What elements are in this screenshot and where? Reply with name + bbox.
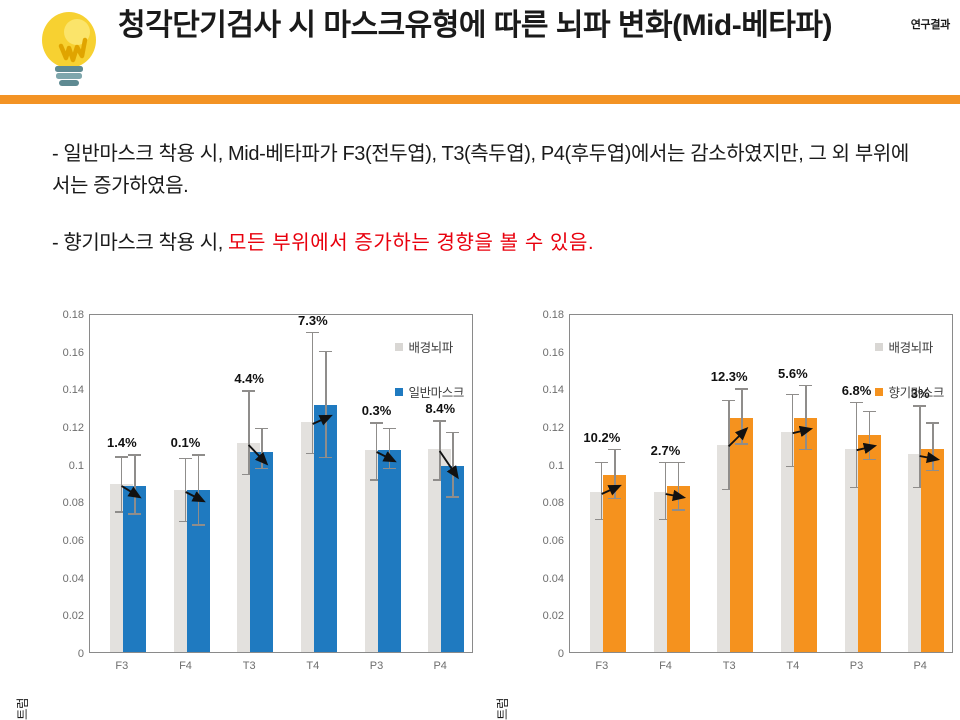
paragraph-scent-highlight: 모든 부위에서 증가하는 경향을 볼 수 있음.: [228, 232, 594, 254]
y-axis-tick: 0.12: [543, 422, 564, 434]
error-bar: [926, 422, 939, 471]
page-title: 청각단기검사 시 마스크유형에 따른 뇌파 변화(Mid-베타파): [118, 6, 858, 46]
chart-legend: 배경뇌파향기마스크: [875, 337, 944, 427]
error-bar: [735, 388, 748, 445]
slide-root: 청각단기검사 시 마스크유형에 따른 뇌파 변화(Mid-베타파) 연구결과 -…: [0, 0, 960, 720]
y-axis-tick: 0.04: [543, 573, 564, 585]
y-axis-tick: 0.02: [543, 610, 564, 622]
y-axis-tick: 0.16: [63, 347, 84, 359]
chart-scent-mask: 상대파워스펙트럼00.020.040.060.080.10.120.140.16…: [480, 298, 960, 688]
percent-change-label: 2.7%: [651, 443, 681, 458]
bar-group: T312.3%: [697, 315, 761, 652]
y-axis-label: 상대파워스펙트럼: [12, 698, 31, 720]
error-bar: [255, 428, 268, 469]
legend-swatch-icon: [395, 343, 403, 351]
error-bar: [383, 428, 396, 469]
y-axis-tick: 0.16: [543, 347, 564, 359]
percent-change-label: 7.3%: [298, 313, 328, 328]
legend-label: 배경뇌파: [888, 337, 932, 356]
x-axis-tick: P3: [825, 660, 889, 672]
error-bar: [446, 432, 459, 498]
y-axis-tick: 0.18: [63, 309, 84, 321]
x-axis-tick: F3: [90, 660, 154, 672]
y-axis-tick: 0.08: [543, 497, 564, 509]
body-text-block: - 일반마스크 착용 시, Mid-베타파가 F3(전두엽), T3(측두엽),…: [52, 138, 912, 259]
chart-normal-mask: 상대파워스펙트럼00.020.040.060.080.10.120.140.16…: [0, 298, 480, 688]
bar-treatment: [794, 418, 817, 652]
y-axis-tick: 0: [78, 648, 84, 660]
x-axis-tick: T4: [761, 660, 825, 672]
paragraph-scent-mask: - 향기마스크 착용 시, 모든 부위에서 증가하는 경향을 볼 수 있음.: [52, 227, 912, 259]
y-axis-tick: 0.14: [63, 384, 84, 396]
percent-change-label: 10.2%: [583, 430, 620, 445]
y-axis-tick: 0: [558, 648, 564, 660]
percent-change-label: 4.4%: [234, 371, 264, 386]
bar-treatment: [858, 435, 881, 652]
x-axis-tick: T3: [217, 660, 281, 672]
legend-item[interactable]: 배경뇌파: [875, 337, 944, 356]
y-axis-tick: 0.06: [543, 535, 564, 547]
y-axis-tick: 0.02: [63, 610, 84, 622]
error-bar: [608, 449, 621, 500]
legend-swatch-icon: [875, 343, 883, 351]
bar-group: F42.7%: [634, 315, 698, 652]
bar-treatment: [667, 486, 690, 652]
y-axis-tick: 0.08: [63, 497, 84, 509]
error-bar: [192, 454, 205, 526]
percent-change-label: 12.3%: [711, 369, 748, 384]
y-axis-tick: 0.14: [543, 384, 564, 396]
y-axis-tick: 0.06: [63, 535, 84, 547]
paragraph-scent-lead: - 향기마스크 착용 시,: [52, 232, 228, 254]
legend-swatch-icon: [875, 388, 883, 396]
y-axis-tick: 0.12: [63, 422, 84, 434]
header-divider: [0, 95, 960, 104]
bar-group: F310.2%: [570, 315, 634, 652]
bar-group: F40.1%: [154, 315, 218, 652]
plot-area: 00.020.040.060.080.10.120.140.160.18F310…: [569, 314, 953, 653]
legend-label: 향기마스크: [888, 382, 944, 401]
x-axis-tick: F4: [634, 660, 698, 672]
legend-label: 일반마스크: [408, 382, 464, 401]
paragraph-normal-mask: - 일반마스크 착용 시, Mid-베타파가 F3(전두엽), T3(측두엽),…: [52, 138, 912, 203]
error-bar: [319, 351, 332, 458]
bar-treatment: [250, 452, 273, 652]
x-axis-tick: T4: [281, 660, 345, 672]
y-axis-label: 상대파워스펙트럼: [492, 698, 511, 720]
x-axis-tick: P4: [888, 660, 952, 672]
percent-change-label: 0.1%: [171, 435, 201, 450]
y-axis-tick: 0.04: [63, 573, 84, 585]
x-axis-tick: F4: [154, 660, 218, 672]
bar-group: F31.4%: [90, 315, 154, 652]
bar-treatment: [921, 449, 944, 652]
x-axis-tick: T3: [697, 660, 761, 672]
x-axis-tick: F3: [570, 660, 634, 672]
slide-header: 청각단기검사 시 마스크유형에 따른 뇌파 변화(Mid-베타파) 연구결과: [0, 0, 960, 103]
legend-label: 배경뇌파: [408, 337, 452, 356]
error-bar: [672, 462, 685, 511]
percent-change-label: 6.8%: [842, 383, 872, 398]
bar-group: T47.3%: [281, 315, 345, 652]
legend-item[interactable]: 배경뇌파: [395, 337, 464, 356]
y-axis-tick: 0.18: [543, 309, 564, 321]
legend-swatch-icon: [395, 388, 403, 396]
lightbulb-icon: [33, 8, 105, 88]
y-axis-tick: 0.1: [549, 460, 564, 472]
plot-area: 00.020.040.060.080.10.120.140.160.18F31.…: [89, 314, 473, 653]
bar-group: T45.6%: [761, 315, 825, 652]
percent-change-label: 0.3%: [362, 403, 392, 418]
bar-treatment: [378, 450, 401, 652]
bar-treatment: [603, 475, 626, 652]
error-bar: [799, 385, 812, 451]
percent-change-label: 1.4%: [107, 435, 137, 450]
legend-item[interactable]: 향기마스크: [875, 382, 944, 401]
x-axis-tick: P3: [345, 660, 409, 672]
bar-treatment: [730, 418, 753, 652]
error-bar: [128, 454, 141, 514]
error-bar: [863, 411, 876, 460]
bar-group: T34.4%: [217, 315, 281, 652]
chart-legend: 배경뇌파일반마스크: [395, 337, 464, 427]
section-tag: 연구결과: [911, 16, 950, 32]
x-axis-tick: P4: [408, 660, 472, 672]
percent-change-label: 5.6%: [778, 366, 808, 381]
legend-item[interactable]: 일반마스크: [395, 382, 464, 401]
y-axis-tick: 0.1: [69, 460, 84, 472]
